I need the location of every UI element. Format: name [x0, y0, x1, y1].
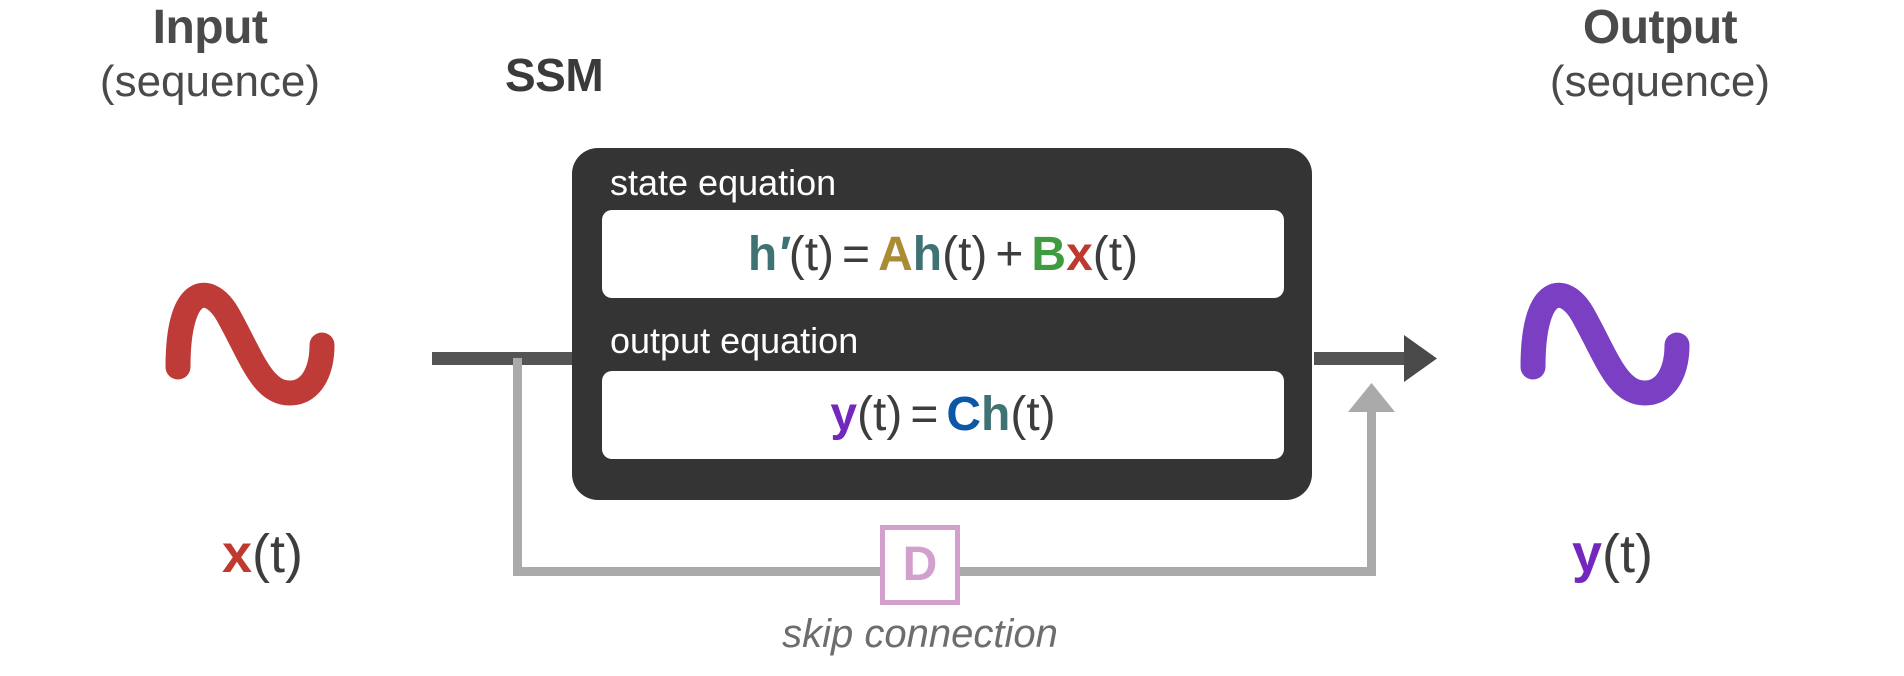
skip-d-letter: D: [903, 541, 938, 589]
state-equation-label: state equation: [602, 162, 1284, 204]
arrow-up-icon: [1348, 383, 1395, 412]
output-eq-token-of-t-2: (t): [1010, 388, 1055, 441]
state-equation-group: state equation h′(t)=Ah(t)+Bx(t): [602, 162, 1284, 298]
skip-wire-horizontal-right: [952, 567, 1376, 576]
skip-d-box: D: [880, 525, 960, 605]
output-eq-token-C: C: [946, 388, 981, 441]
state-eq-token-A: A: [878, 228, 913, 281]
state-eq-token-x: x: [1066, 228, 1093, 281]
state-eq-token-of-t-1: (t): [789, 228, 834, 281]
output-signal-symbol: y: [1572, 524, 1602, 584]
red-sine-wave-icon: [178, 295, 322, 393]
input-wire: [432, 352, 574, 365]
ssm-panel: state equation h′(t)=Ah(t)+Bx(t) output …: [572, 148, 1312, 500]
state-eq-token-h: h: [748, 228, 777, 281]
output-signal-arg: (t): [1602, 524, 1653, 584]
output-wire: [1314, 352, 1410, 365]
skip-wire-horizontal-left: [513, 567, 889, 576]
ssm-diagram: Input (sequence) Output (sequence) SSM: [0, 0, 1904, 676]
state-eq-token-h2: h: [913, 228, 942, 281]
output-equation-text: y(t)=Ch(t): [830, 387, 1055, 442]
state-equation-card: h′(t)=Ah(t)+Bx(t): [602, 210, 1284, 298]
output-equation-group: output equation y(t)=Ch(t): [602, 320, 1284, 458]
output-equation-card: y(t)=Ch(t): [602, 371, 1284, 459]
state-eq-token-plus: +: [987, 228, 1031, 281]
output-eq-token-equals: =: [902, 388, 946, 441]
state-eq-token-of-t-3: (t): [1093, 228, 1138, 281]
state-equation-text: h′(t)=Ah(t)+Bx(t): [748, 227, 1138, 282]
arrow-right-icon: [1404, 335, 1437, 382]
state-eq-token-of-t-2: (t): [942, 228, 987, 281]
output-eq-token-y: y: [830, 388, 857, 441]
input-signal-arg: (t): [252, 524, 303, 584]
state-eq-token-B: B: [1031, 228, 1066, 281]
input-signal-label: x(t): [222, 527, 303, 581]
output-eq-token-of-t-1: (t): [857, 388, 902, 441]
output-eq-token-h: h: [981, 388, 1010, 441]
output-equation-label: output equation: [602, 320, 1284, 362]
skip-wire-vertical-right: [1367, 398, 1376, 576]
input-signal-symbol: x: [222, 524, 252, 584]
skip-connection-label: skip connection: [720, 612, 1120, 657]
state-eq-token-equals: =: [834, 228, 878, 281]
output-signal-label: y(t): [1572, 527, 1653, 581]
purple-sine-wave-icon: [1533, 295, 1677, 393]
state-eq-token-prime: ′: [777, 228, 789, 281]
skip-wire-vertical-left: [513, 358, 522, 576]
